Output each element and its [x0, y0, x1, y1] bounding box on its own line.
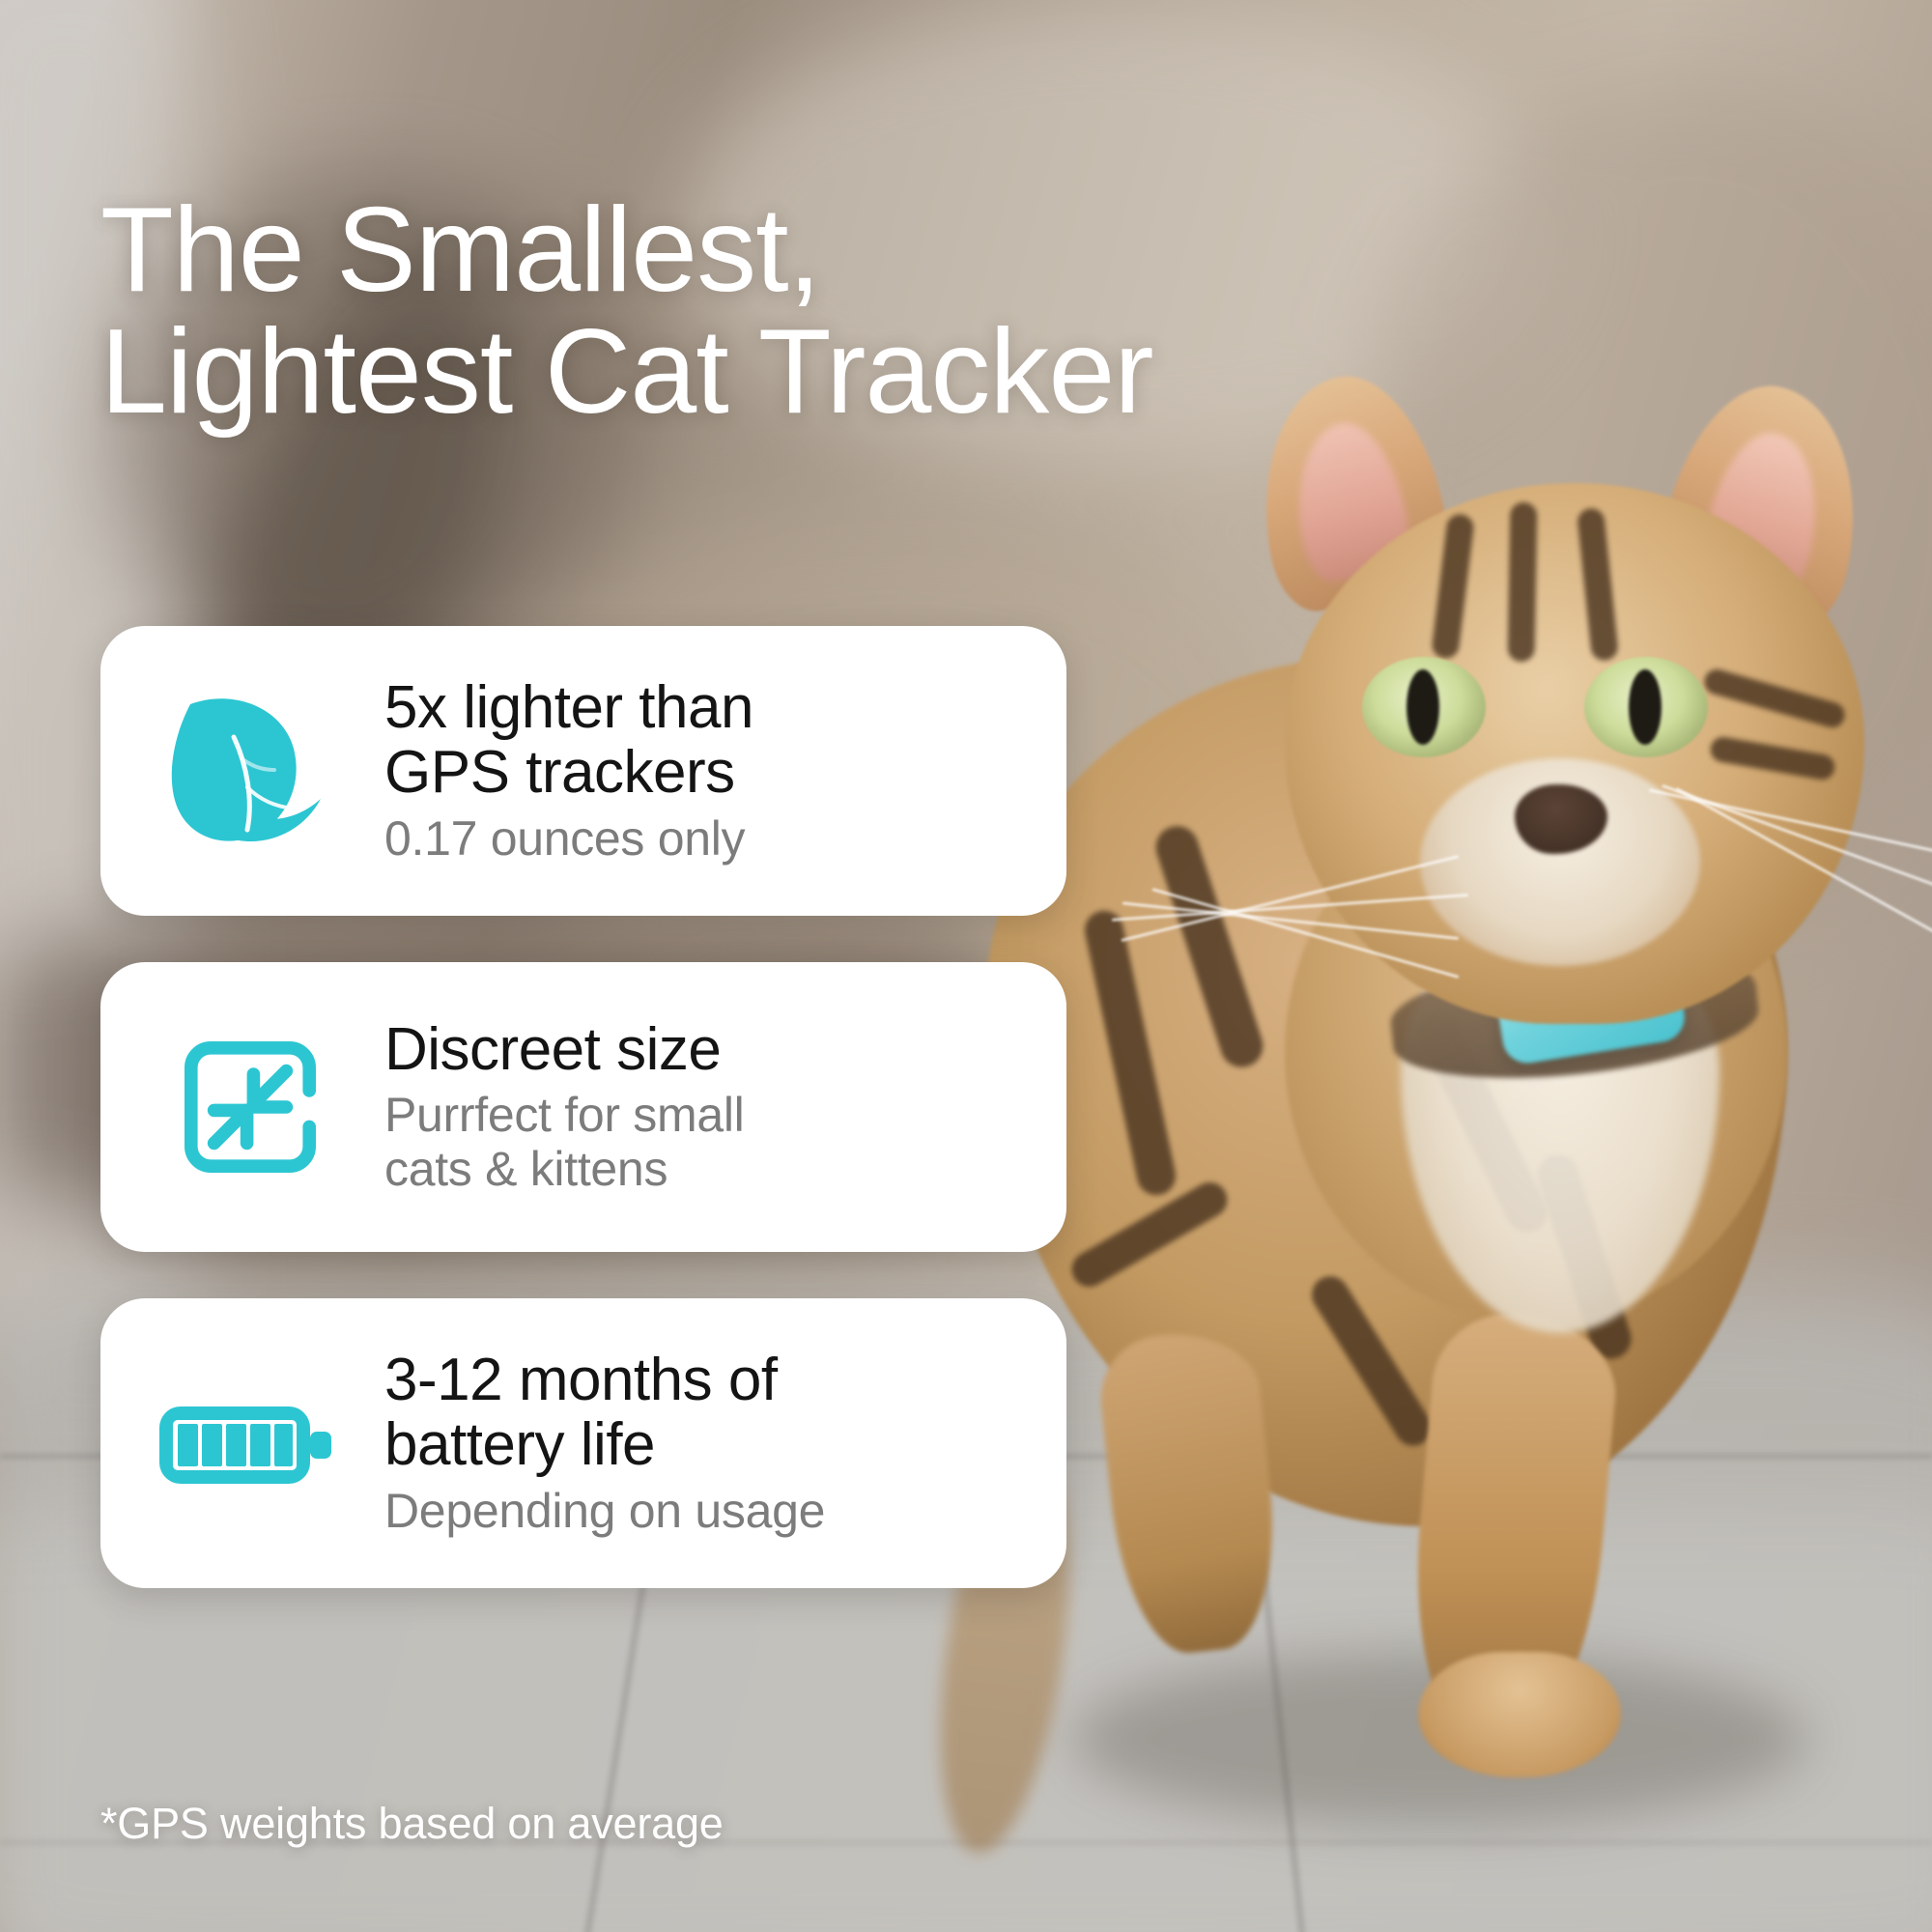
page-title: The Smallest, Lightest Cat Tracker: [100, 189, 1153, 434]
feature-subtitle: Depending on usage: [384, 1484, 825, 1538]
cat-forehead-stripe: [1508, 502, 1538, 662]
feature-card-text: Discreet size Purrfect for small cats & …: [361, 1018, 744, 1197]
feather-icon: [139, 687, 361, 856]
feature-title: 3-12 months of battery life: [384, 1349, 825, 1478]
product-feature-graphic: The Smallest, Lightest Cat Tracker 5x li…: [0, 0, 1932, 1932]
cat-pupil-right: [1629, 669, 1662, 745]
feature-card-text: 3-12 months of battery life Depending on…: [361, 1349, 825, 1538]
feature-card-lighter: 5x lighter than GPS trackers 0.17 ounces…: [100, 626, 1066, 916]
cat-front-paw: [1418, 1652, 1621, 1777]
feature-subtitle: 0.17 ounces only: [384, 811, 753, 866]
shrink-icon: [139, 1025, 361, 1189]
battery-full-icon: [139, 1385, 361, 1501]
feature-subtitle: Purrfect for small cats & kittens: [384, 1088, 744, 1196]
feature-card-battery-life: 3-12 months of battery life Depending on…: [100, 1298, 1066, 1588]
feature-card-list: 5x lighter than GPS trackers 0.17 ounces…: [100, 626, 1066, 1588]
feature-title: 5x lighter than GPS trackers: [384, 676, 753, 806]
feature-card-discreet-size: Discreet size Purrfect for small cats & …: [100, 962, 1066, 1252]
feature-card-text: 5x lighter than GPS trackers 0.17 ounces…: [361, 676, 753, 866]
feature-title: Discreet size: [384, 1018, 744, 1083]
footnote-disclaimer: *GPS weights based on average: [100, 1799, 724, 1849]
cat-pupil-left: [1406, 669, 1439, 745]
